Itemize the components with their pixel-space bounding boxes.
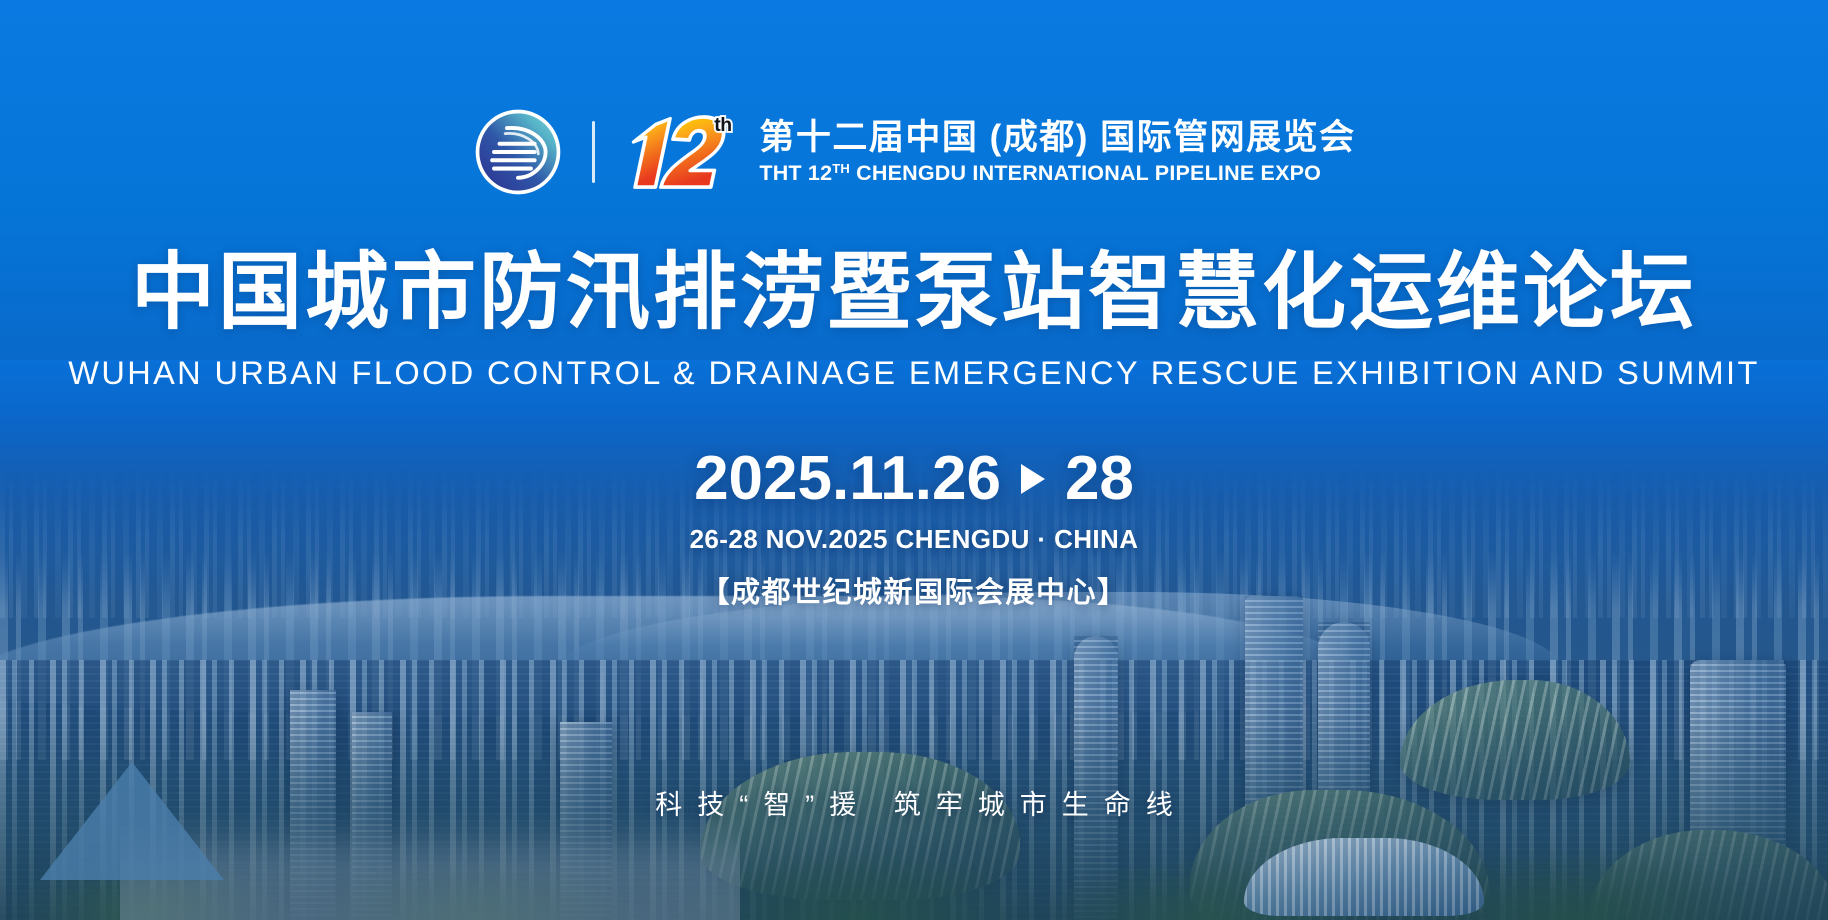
expo-header-text: 第十二届中国 (成都) 国际管网展览会 THT 12TH CHENGDU INT…: [759, 118, 1355, 185]
vertical-divider-icon: [592, 121, 595, 183]
expo-title-en-rest: CHENGDU INTERNATIONAL PIPELINE EXPO: [850, 161, 1321, 185]
event-banner: th 第十二届中国 (成都) 国际管网展览会 THT 12TH CHENGDU …: [0, 0, 1828, 920]
expo-title-en-ordinal: TH: [832, 161, 850, 176]
anniversary-12th-graphic: th: [621, 104, 741, 200]
date-end: 28: [1065, 446, 1134, 511]
expo-title-cn: 第十二届中国 (成都) 国际管网展览会: [759, 118, 1355, 157]
forum-title-cn: 中国城市防汛排涝暨泵站智慧化运维论坛: [0, 245, 1828, 341]
expo-title-en: THT 12TH CHENGDU INTERNATIONAL PIPELINE …: [759, 161, 1355, 186]
forum-title-en: WUHAN URBAN FLOOD CONTROL & DRAINAGE EME…: [0, 355, 1828, 392]
svg-text:th: th: [715, 114, 732, 136]
main-title-block: 中国城市防汛排涝暨泵站智慧化运维论坛 WUHAN URBAN FLOOD CON…: [0, 245, 1828, 392]
event-date: 2025.11.26 28: [694, 446, 1134, 511]
expo-title-en-prefix: THT 12: [759, 161, 832, 185]
play-triangle-icon: [1021, 464, 1045, 494]
date-venue-block: 2025.11.26 28 26-28 NOV.2025 CHENGDU · C…: [0, 446, 1828, 611]
event-date-en: 26-28 NOV.2025 CHENGDU · CHINA: [0, 524, 1828, 555]
pipeline-circle-logo-icon: [472, 106, 564, 198]
date-start: 2025.11.26: [694, 446, 1001, 511]
event-venue-cn: 【成都世纪城新国际会展中心】: [0, 569, 1828, 611]
expo-header-lockup: th 第十二届中国 (成都) 国际管网展览会 THT 12TH CHENGDU …: [0, 104, 1828, 200]
event-tagline: 科技“智”援 筑牢城市生命线: [0, 783, 1828, 822]
